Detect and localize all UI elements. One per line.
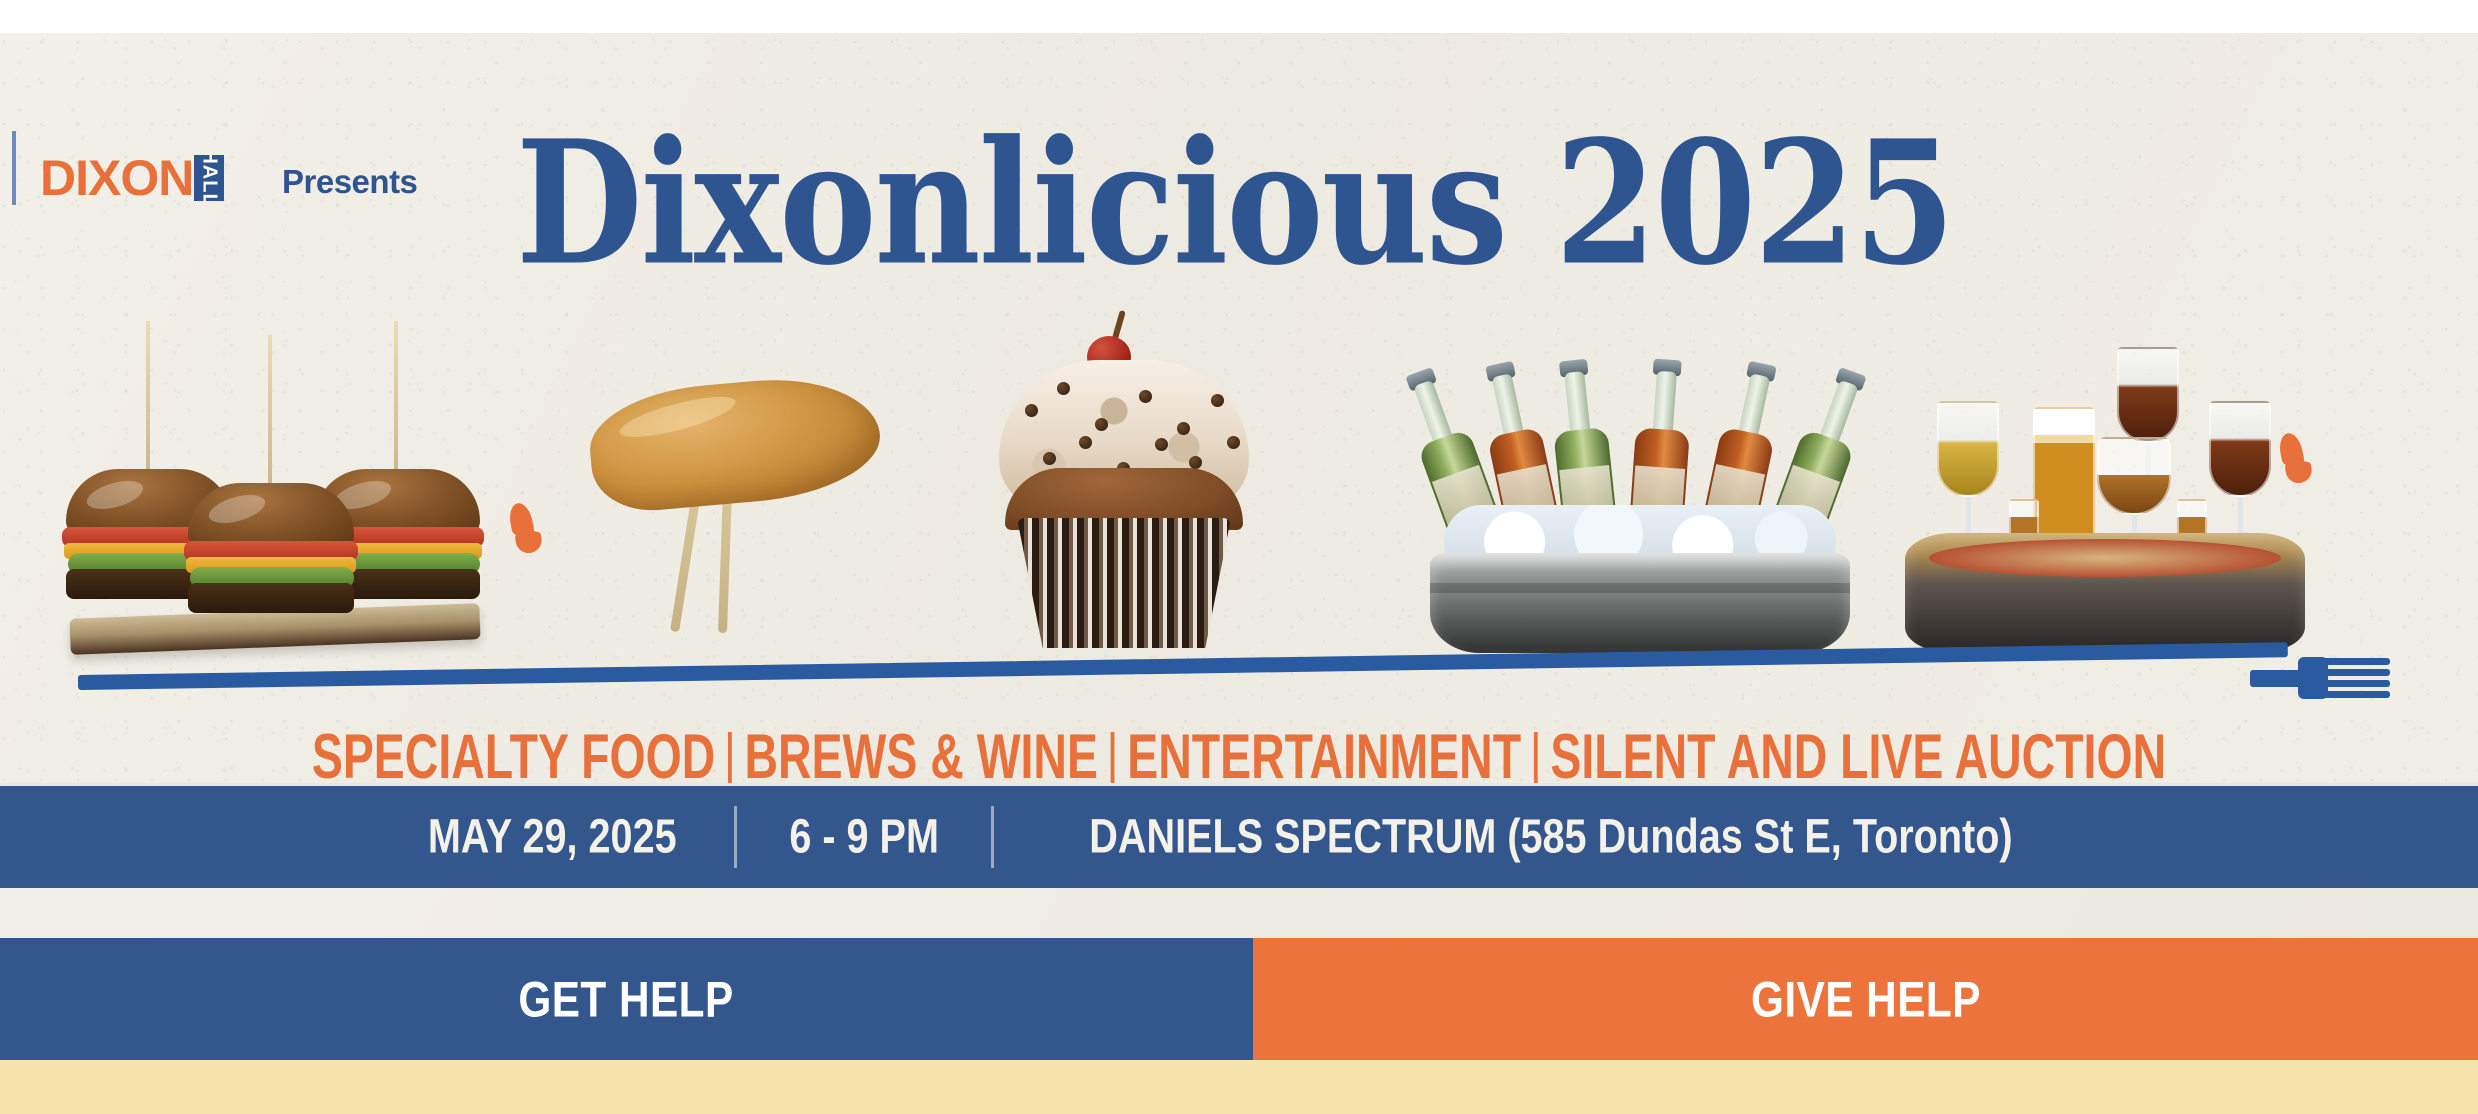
empanada-with-chopsticks-image (570, 343, 900, 643)
event-tagline: SPECIALTY FOOD|BREWS & WINE|ENTERTAINMEN… (173, 721, 2304, 783)
cocktail-pick-icon (268, 335, 272, 485)
info-divider (734, 806, 737, 868)
tagline-item-specialty-food: SPECIALTY FOOD (312, 722, 715, 783)
event-time: 6 - 9 PM (789, 810, 939, 865)
cream-gap (0, 888, 2478, 938)
give-help-label: GIVE HELP (1751, 970, 1981, 1028)
wooden-barrel (1905, 533, 2305, 653)
chocolate-cupcake-image (975, 308, 1275, 653)
info-divider (991, 806, 994, 868)
cta-button-row: GET HELP GIVE HELP (0, 938, 2478, 1060)
tagline-separator: | (715, 722, 744, 783)
event-banner-page: DIXON HALL Presents Dixonlicious 2025 (0, 0, 2478, 1114)
tagline-item-entertainment: ENTERTAINMENT (1127, 722, 1521, 783)
tagline-item-brews-wine: BREWS & WINE (745, 722, 1098, 783)
tagline-separator: | (1098, 722, 1127, 783)
tagline-item-auction: SILENT AND LIVE AUCTION (1550, 722, 2166, 783)
cocktail-pick-icon (394, 321, 398, 471)
wine-and-spirits-on-barrel-image (1905, 333, 2325, 653)
cupcake-liner (1017, 518, 1231, 648)
cocktail-pick-icon (146, 321, 150, 471)
event-venue: DANIELS SPECTRUM (585 Dundas St E, Toron… (1090, 810, 2013, 865)
metal-bucket (1430, 553, 1850, 653)
bottom-yellow-strip (0, 1060, 2478, 1114)
event-date: MAY 29, 2025 (427, 810, 676, 865)
tagline-separator: | (1521, 722, 1550, 783)
empanada-shape (585, 371, 884, 516)
food-collage (0, 33, 2478, 783)
hero-banner: DIXON HALL Presents Dixonlicious 2025 (0, 33, 2478, 783)
get-help-label: GET HELP (519, 970, 734, 1028)
beer-bottles-in-ice-bucket-image (1420, 333, 1860, 653)
top-white-strip (0, 0, 2478, 33)
get-help-button[interactable]: GET HELP (0, 938, 1253, 1060)
slider-item (182, 483, 360, 633)
sliders-on-board-image (60, 323, 490, 653)
event-info-bar: MAY 29, 2025 6 - 9 PM DANIELS SPECTRUM (… (0, 783, 2478, 888)
give-help-button[interactable]: GIVE HELP (1253, 938, 2478, 1060)
